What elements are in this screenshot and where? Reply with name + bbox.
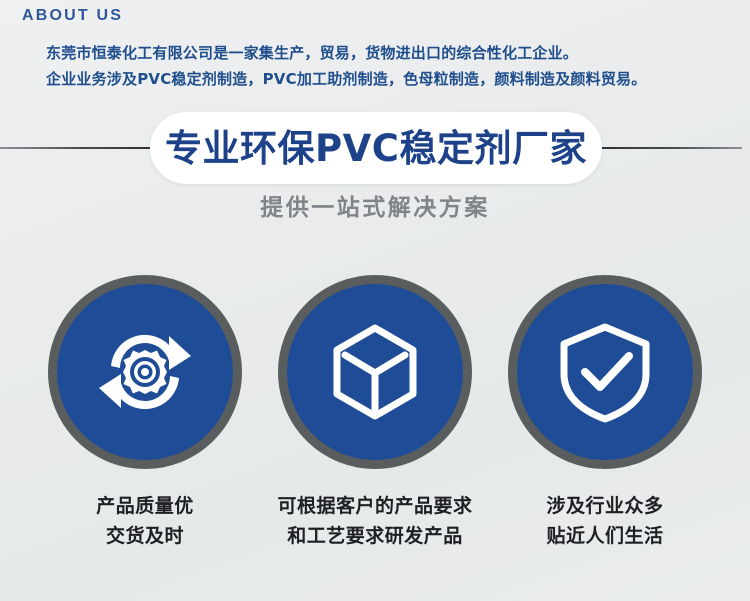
feature-caption-line: 交货及时 (96, 521, 194, 551)
banner-pill: 专业环保PVC稳定剂厂家 (150, 112, 602, 184)
feature-caption-line: 可根据客户的产品要求 (277, 491, 472, 521)
intro-paragraph: 东莞市恒泰化工有限公司是一家集生产，贸易，货物进出口的综合性化工企业。 企业业务… (46, 40, 736, 92)
feature-caption-line: 涉及行业众多 (546, 491, 663, 521)
feature-caption-line: 产品质量优 (96, 491, 194, 521)
divider-line-left (0, 147, 158, 149)
feature-icon-circle (508, 275, 702, 469)
feature-caption-line: 贴近人们生活 (546, 521, 663, 551)
cube-box-icon (315, 312, 435, 432)
feature-caption-line: 和工艺要求研发产品 (277, 521, 472, 551)
about-us-section: ABOUT US 东莞市恒泰化工有限公司是一家集生产，贸易，货物进出口的综合性化… (0, 0, 750, 601)
gear-cycle-icon (85, 312, 205, 432)
banner-subtitle: 提供一站式解决方案 (0, 188, 750, 222)
feature-caption: 涉及行业众多 贴近人们生活 (546, 491, 663, 551)
feature-caption: 可根据客户的产品要求 和工艺要求研发产品 (277, 491, 472, 551)
banner: 专业环保PVC稳定剂厂家 (0, 112, 750, 184)
banner-title: 专业环保PVC稳定剂厂家 (165, 130, 587, 167)
feature-list: 产品质量优 交货及时 可根据客户的产品要求 和工艺要求研发产品 (0, 275, 750, 551)
divider-line-right (592, 147, 742, 149)
shield-check-icon (545, 312, 665, 432)
feature-item: 涉及行业众多 贴近人们生活 (505, 275, 705, 551)
feature-caption: 产品质量优 交货及时 (96, 491, 194, 551)
feature-icon-circle (48, 275, 242, 469)
page-title: ABOUT US (22, 7, 123, 25)
feature-item: 产品质量优 交货及时 (45, 275, 245, 551)
feature-icon-circle (278, 275, 472, 469)
feature-item: 可根据客户的产品要求 和工艺要求研发产品 (275, 275, 475, 551)
intro-line-2: 企业业务涉及PVC稳定剂制造，PVC加工助剂制造，色母粒制造，颜料制造及颜料贸易… (46, 66, 736, 92)
intro-line-1: 东莞市恒泰化工有限公司是一家集生产，贸易，货物进出口的综合性化工企业。 (46, 40, 736, 66)
